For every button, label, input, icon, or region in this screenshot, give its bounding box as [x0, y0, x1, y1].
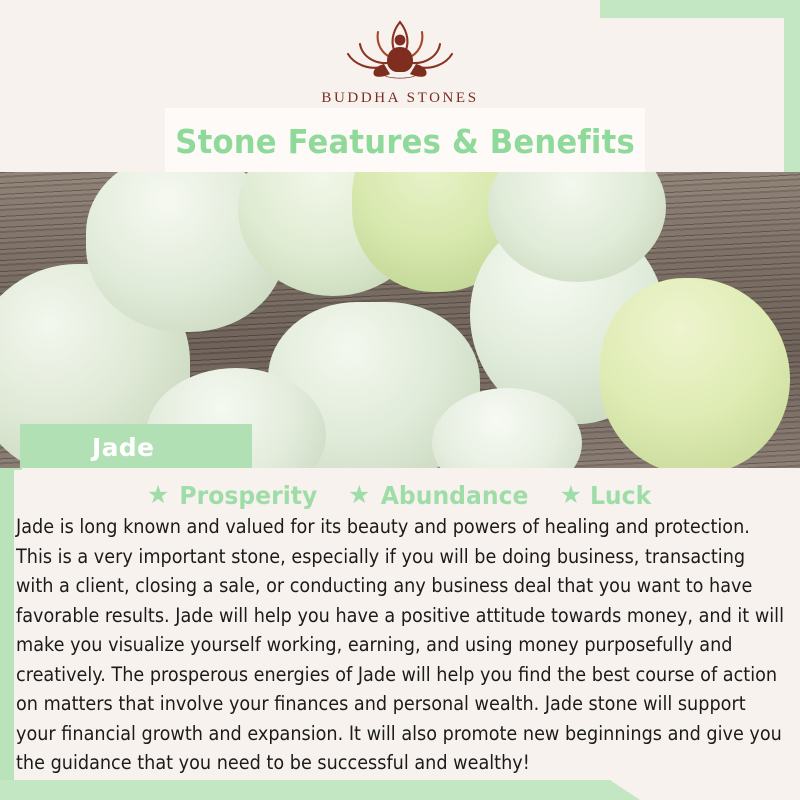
benefits-row: ★ Prosperity ★ Abundance ★ Luck	[14, 478, 786, 512]
star-icon: ★	[348, 483, 370, 508]
benefit-item: ★ Abundance	[348, 481, 534, 510]
brand-wordmark: BUDDHA STONES	[321, 90, 478, 107]
star-icon: ★	[147, 483, 169, 508]
brand-header: BUDDHA STONES	[0, 0, 800, 120]
page-title: Stone Features & Benefits	[175, 122, 635, 161]
benefit-label: Prosperity	[180, 481, 318, 510]
benefit-label: Abundance	[381, 481, 529, 510]
stone-name-badge: Jade	[20, 424, 252, 468]
lotus-meditation-icon	[334, 14, 466, 86]
stone-benefits-poster: BUDDHA STONES Stone Features & Benefits …	[0, 0, 800, 800]
benefit-item: ★ Prosperity	[147, 481, 322, 510]
decor-bottom-band	[0, 780, 640, 800]
stone-name-label: Jade	[92, 433, 154, 462]
benefit-label: Luck	[590, 481, 651, 510]
title-card: Stone Features & Benefits	[165, 108, 645, 174]
stone-photo: Jade	[0, 172, 800, 468]
star-icon: ★	[560, 483, 582, 508]
benefit-item: ★ Luck	[560, 481, 654, 510]
stone-description: Jade is long known and valued for its be…	[16, 512, 788, 778]
